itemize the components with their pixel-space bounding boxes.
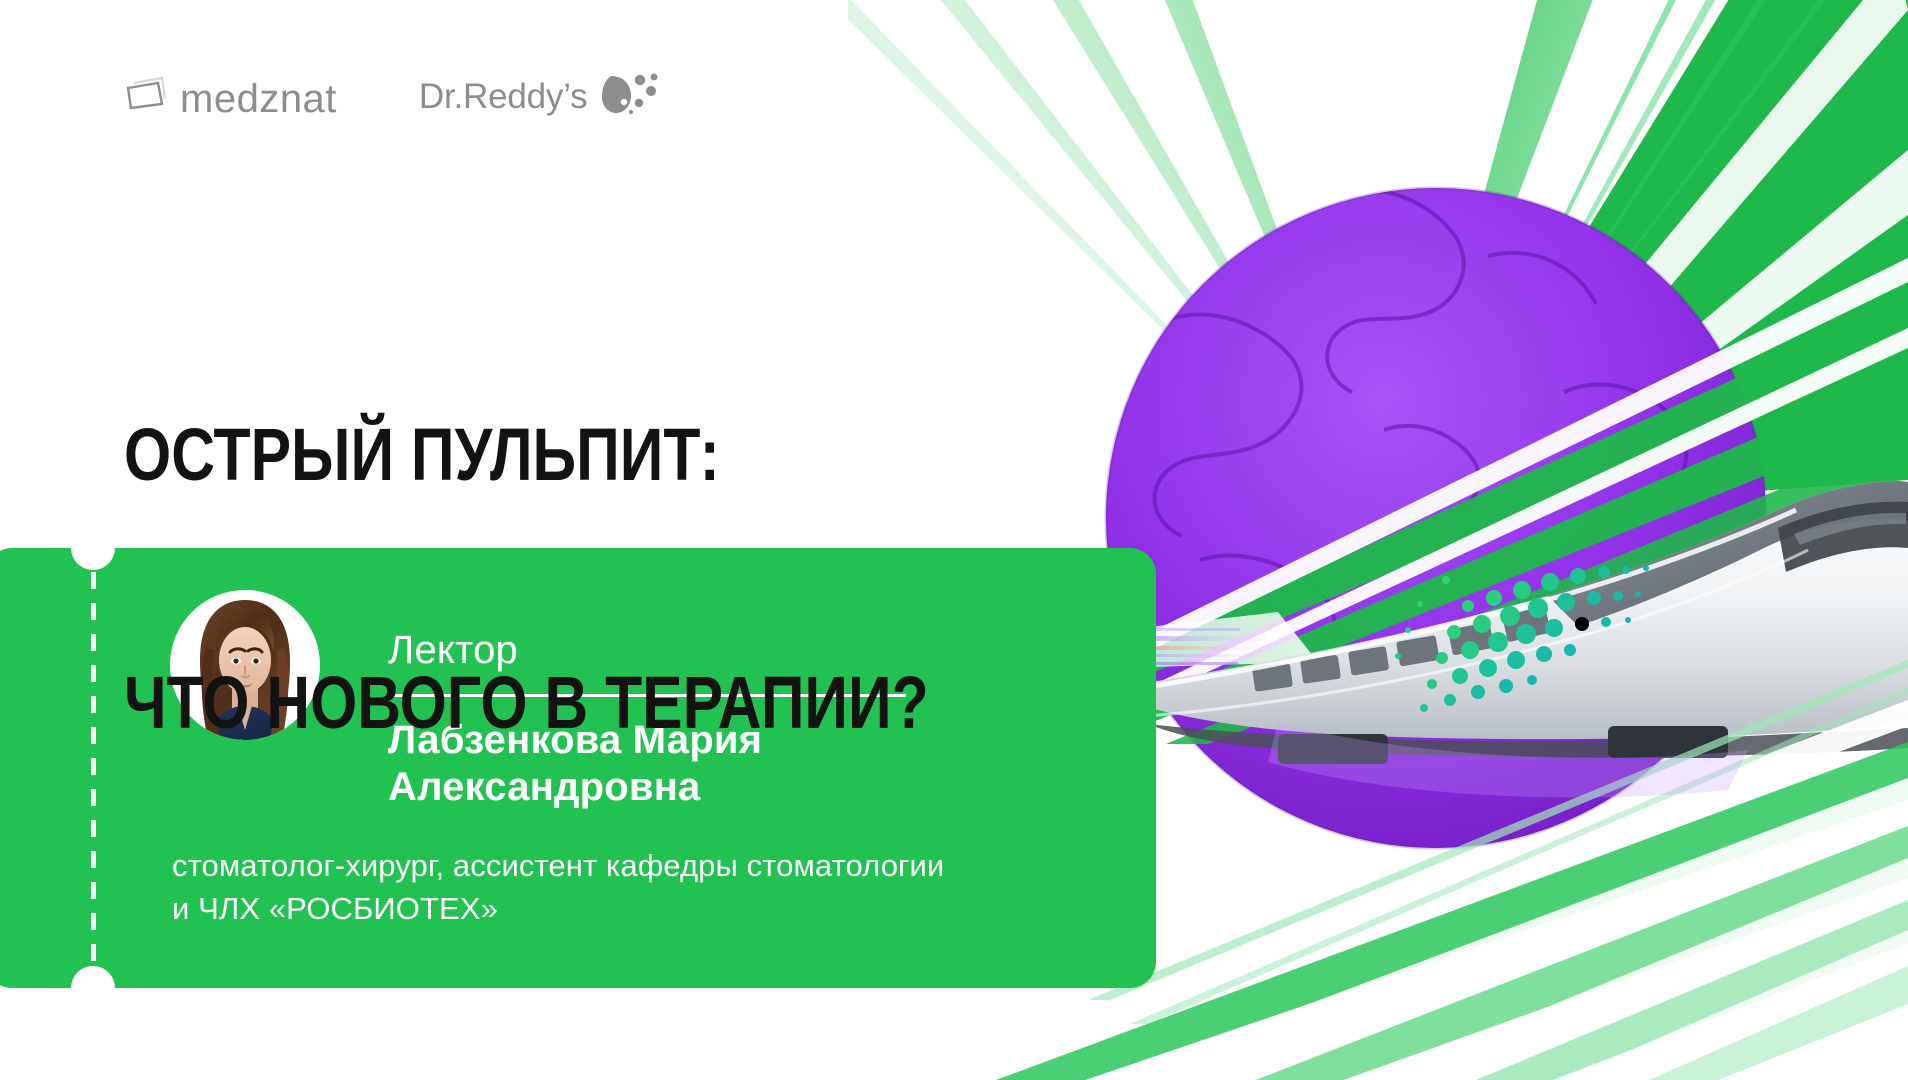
logo-dr-reddys[interactable]: Dr.Reddy’s — [419, 72, 664, 121]
reddys-droplet-dots-icon — [601, 72, 663, 121]
ticket-notch-top — [71, 548, 115, 570]
logo-bar: medznat Dr.Reddy’s — [124, 72, 663, 121]
logo-medznat[interactable]: medznat — [124, 74, 337, 119]
book-page-icon — [124, 74, 168, 119]
lecturer-description: стоматолог-хирург, ассистент кафедры сто… — [172, 845, 944, 931]
page-title-line-2: ЧТО НОВОГО В ТЕРАПИИ? — [124, 662, 929, 745]
ticket-perforation-line — [91, 572, 96, 964]
ticket-notch-bottom — [71, 966, 115, 988]
page-title: ОСТРЫЙ ПУЛЬПИТ: ЧТО НОВОГО В ТЕРАПИИ? — [124, 248, 929, 828]
page-title-line-1: ОСТРЫЙ ПУЛЬПИТ: — [124, 414, 929, 497]
logo-dr-reddys-text: Dr.Reddy’s — [419, 79, 588, 114]
logo-medznat-text: medznat — [180, 79, 337, 119]
